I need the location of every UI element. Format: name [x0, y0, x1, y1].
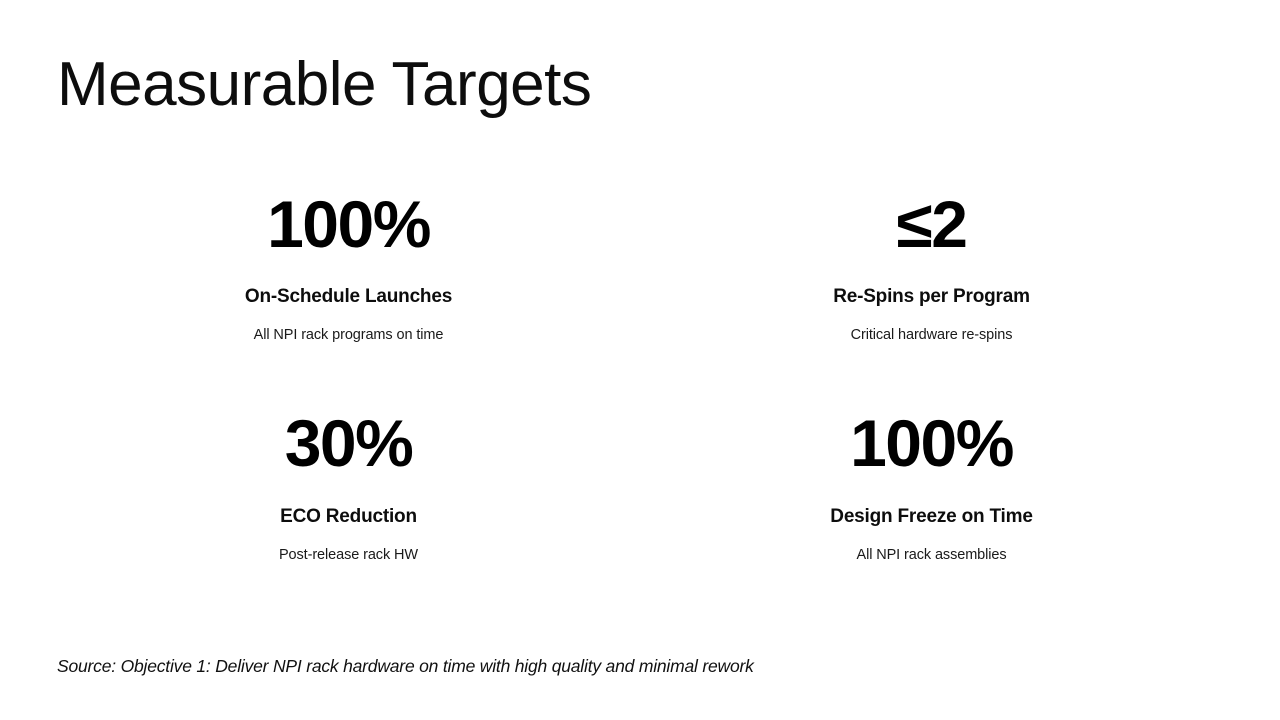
- page-title: Measurable Targets: [57, 52, 591, 117]
- stat-caption: Post-release rack HW: [279, 547, 418, 564]
- stat-label: On-Schedule Launches: [245, 286, 452, 309]
- stat-caption: All NPI rack programs on time: [254, 327, 444, 344]
- stats-grid: 100% On-Schedule Launches All NPI rack p…: [57, 190, 1223, 564]
- slide-canvas: Measurable Targets 100% On-Schedule Laun…: [0, 0, 1280, 720]
- source-note: Source: Objective 1: Deliver NPI rack ha…: [57, 656, 754, 677]
- stat-card-design-freeze-on-time: 100% Design Freeze on Time All NPI rack …: [640, 409, 1223, 563]
- stat-caption: Critical hardware re-spins: [851, 327, 1013, 344]
- stat-value: 100%: [850, 409, 1013, 478]
- stat-card-eco-reduction: 30% ECO Reduction Post-release rack HW: [57, 409, 640, 563]
- stat-label: Design Freeze on Time: [830, 506, 1032, 529]
- stat-value: 100%: [267, 190, 430, 259]
- stat-label: ECO Reduction: [280, 506, 417, 529]
- stat-card-on-schedule-launches: 100% On-Schedule Launches All NPI rack p…: [57, 190, 640, 344]
- stat-label: Re-Spins per Program: [833, 286, 1030, 309]
- stat-value: 30%: [285, 409, 413, 478]
- stat-caption: All NPI rack assemblies: [857, 547, 1007, 564]
- stat-value: ≤2: [897, 190, 967, 259]
- stat-card-re-spins-per-program: ≤2 Re-Spins per Program Critical hardwar…: [640, 190, 1223, 344]
